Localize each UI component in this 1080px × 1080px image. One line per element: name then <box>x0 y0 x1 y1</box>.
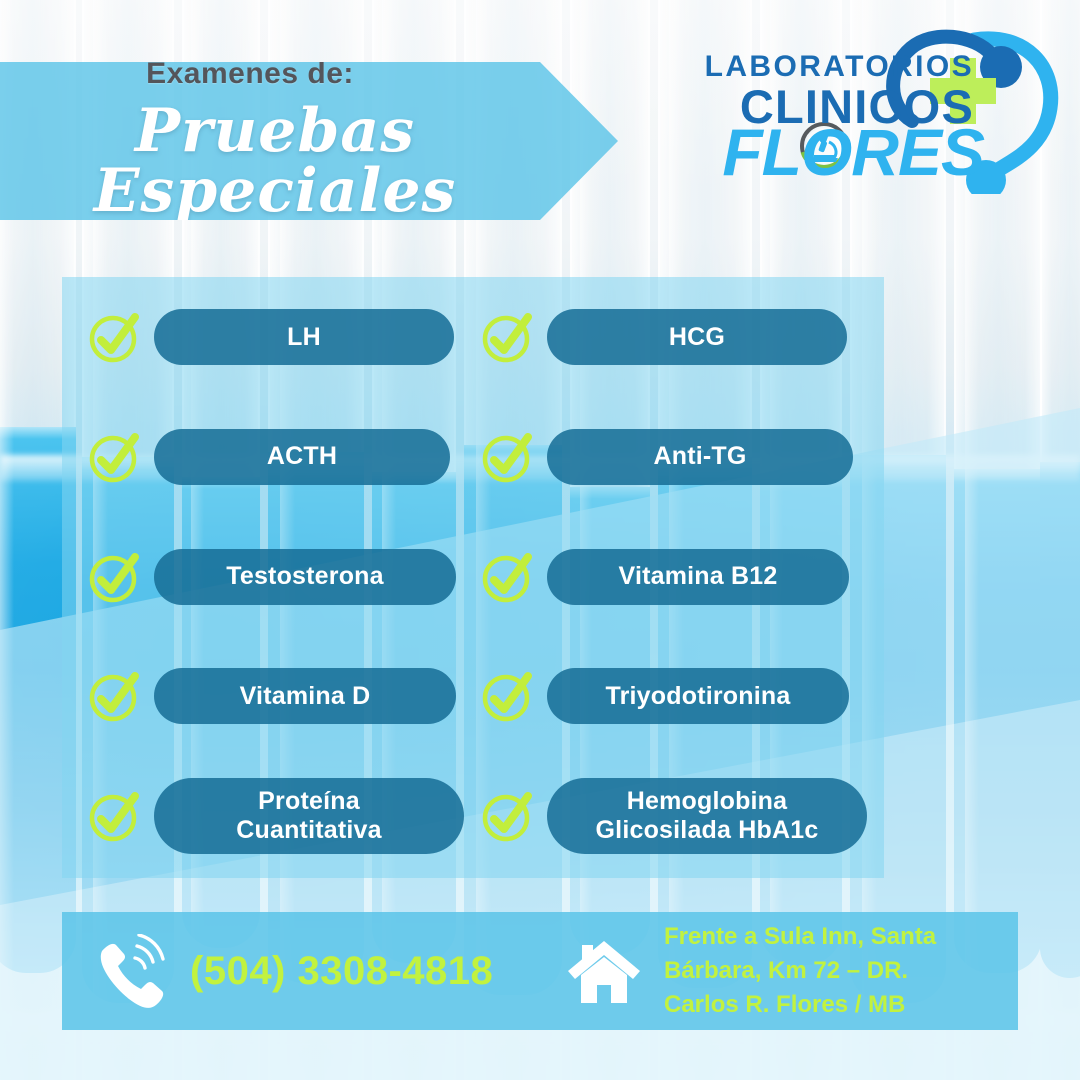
page-title: Pruebas Especiales <box>0 101 620 221</box>
test-item[interactable]: Hemoglobina Glicosilada HbA1c <box>473 778 884 854</box>
header-banner: Examenes de: Pruebas Especiales <box>0 62 620 220</box>
test-item[interactable]: Vitamina B12 <box>473 549 884 605</box>
address-line-1: Frente a Sula Inn, Santa <box>664 920 936 954</box>
check-circle-icon <box>88 431 140 483</box>
house-icon <box>566 935 642 1007</box>
footer-contact-bar: (504) 3308-4818 Frente a Sula Inn, Santa… <box>62 912 1018 1030</box>
check-circle-icon <box>88 790 140 842</box>
test-pill-line2: Glicosilada HbA1c <box>596 816 819 845</box>
logo-line-flores: FLORES <box>722 119 984 185</box>
check-circle-icon <box>481 670 533 722</box>
test-row: Vitamina D Triyodotironina <box>62 650 884 742</box>
test-pill[interactable]: Hemoglobina Glicosilada HbA1c <box>547 778 867 854</box>
address-line-3: Carlos R. Flores / MB <box>664 988 936 1022</box>
logo-line-laboratorios: LABORATORIOS <box>674 52 974 82</box>
check-circle-icon <box>481 311 533 363</box>
test-pill-line1: Proteína <box>236 787 381 816</box>
check-circle-icon <box>88 311 140 363</box>
test-item[interactable]: Proteína Cuantitativa <box>62 778 473 854</box>
logo-flores-wrap: FLORES <box>684 119 984 185</box>
poster-canvas: Examenes de: Pruebas Especiales <box>0 0 1080 1080</box>
check-circle-icon <box>481 790 533 842</box>
test-item[interactable]: Vitamina D <box>62 668 473 724</box>
test-row: Proteína Cuantitativa Hemoglobina Glicos… <box>62 770 884 862</box>
address-contact[interactable]: Frente a Sula Inn, Santa Bárbara, Km 72 … <box>562 920 1018 1022</box>
address-text: Frente a Sula Inn, Santa Bárbara, Km 72 … <box>664 920 936 1022</box>
test-pill[interactable]: LH <box>154 309 454 365</box>
test-pill[interactable]: Anti-TG <box>547 429 853 485</box>
brand-logo[interactable]: LABORATORIOS CLINICOS FLORES <box>674 22 1064 194</box>
test-pill[interactable]: Testosterona <box>154 549 456 605</box>
test-pill[interactable]: HCG <box>547 309 847 365</box>
test-pill[interactable]: ACTH <box>154 429 450 485</box>
phone-number[interactable]: (504) 3308-4818 <box>190 949 493 994</box>
test-item[interactable]: LH <box>62 309 473 365</box>
test-pill-line1: Hemoglobina <box>596 787 819 816</box>
test-row: LH HCG <box>62 291 884 383</box>
test-row: Testosterona Vitamina B12 <box>62 531 884 623</box>
test-pill[interactable]: Proteína Cuantitativa <box>154 778 464 854</box>
phone-contact[interactable]: (504) 3308-4818 <box>62 934 562 1008</box>
test-row: ACTH Anti-TG <box>62 411 884 503</box>
test-pill[interactable]: Triyodotironina <box>547 668 849 724</box>
check-circle-icon <box>481 551 533 603</box>
test-pill[interactable]: Vitamina D <box>154 668 456 724</box>
test-item[interactable]: Anti-TG <box>473 429 884 485</box>
tests-list: LH HCG ACTH <box>62 277 884 878</box>
test-item[interactable]: Testosterona <box>62 549 473 605</box>
check-circle-icon <box>481 431 533 483</box>
test-pill[interactable]: Vitamina B12 <box>547 549 849 605</box>
address-line-2: Bárbara, Km 72 – DR. <box>664 954 936 988</box>
check-circle-icon <box>88 670 140 722</box>
test-item[interactable]: Triyodotironina <box>473 668 884 724</box>
test-pill-line2: Cuantitativa <box>236 816 381 845</box>
check-circle-icon <box>88 551 140 603</box>
test-item[interactable]: ACTH <box>62 429 473 485</box>
test-item[interactable]: HCG <box>473 309 884 365</box>
banner-kicker: Examenes de: <box>0 57 620 91</box>
ringing-phone-icon <box>90 934 168 1008</box>
